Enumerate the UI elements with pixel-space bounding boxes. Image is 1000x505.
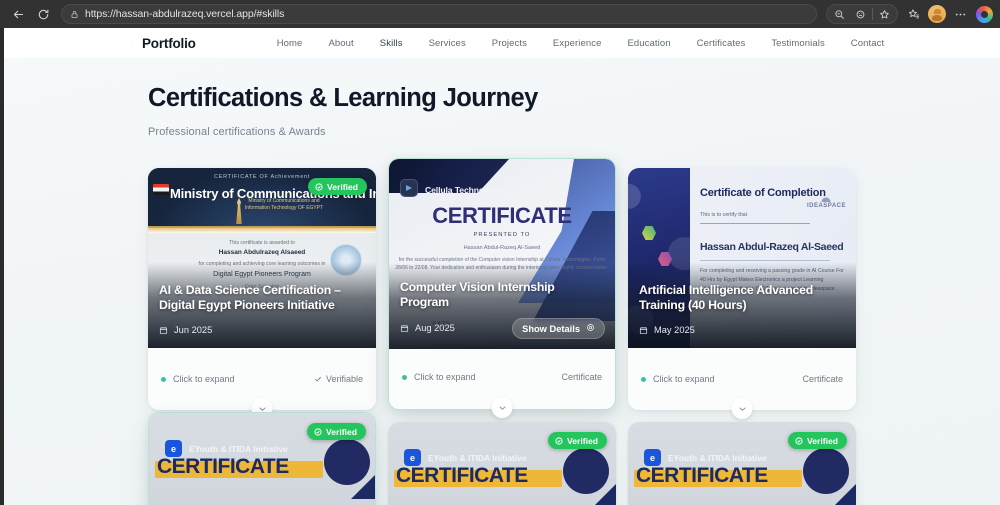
certificate-image[interactable]: Cellula Technologies CERTIFICATE PRESENT… [389,159,615,349]
expand-hint-label: Click to expand [414,372,476,382]
cert-heading: CERTIFICATE [157,455,289,479]
address-bar[interactable]: https://hassan-abdulrazeq.vercel.app/#sk… [61,4,817,24]
status-badge-verified: Verified [307,423,366,440]
nav-item-testimonials[interactable]: Testimonials [758,34,837,53]
certificate-date: Aug 2025 [400,323,455,333]
lock-icon [70,10,79,19]
nav-item-projects[interactable]: Projects [479,34,540,53]
card-footer-meta: Certificate [802,374,843,384]
status-dot-icon [402,375,407,380]
certificate-date-text: Jun 2025 [174,325,212,335]
chevron-down-icon[interactable] [732,398,753,419]
brand-logo[interactable]: Portfolio [142,36,196,51]
nav-item-home[interactable]: Home [264,34,316,53]
certificate-card-ai-data-science[interactable]: CERTIFICATE OF Achievement Ministry of C… [148,168,376,410]
expand-hint-label: Click to expand [653,374,715,384]
certificate-card-eyouth-2[interactable]: e EYouth & ITIDA Initiative CERTIFICATE … [388,422,616,505]
certificate-title: Artificial Intelligence Advanced Trainin… [639,283,845,314]
copilot-icon[interactable] [976,6,993,23]
favorite-star-icon[interactable] [874,4,895,25]
nav-item-skills[interactable]: Skills [367,34,416,53]
ideaspace-label: IDEASPACE [807,203,846,209]
cert-heading: CERTIFICATE [636,464,768,488]
certificate-card-ai-advanced-training[interactable]: Certificate of Completion This is to cer… [628,168,856,410]
calendar-icon [159,326,168,335]
expand-hint[interactable]: Click to expand [641,374,715,384]
check-circle-icon [555,437,563,445]
cert-org-name: EYouth & ITIDA Initiative [668,453,767,463]
collections-icon[interactable] [903,4,924,25]
show-details-button[interactable]: Show Details [512,318,605,339]
check-circle-icon [315,183,323,191]
certificate-image[interactable]: e EYouth & ITIDA Initiative CERTIFICATE … [628,422,856,505]
nav-item-services[interactable]: Services [416,34,479,53]
check-circle-icon [314,428,322,436]
certificate-title: Computer Vision Internship Program [400,280,604,311]
badge-label: Verified [326,427,357,437]
status-badge-verified: Verified [548,432,607,449]
cert-org-name: EYouth & ITIDA Initiative [428,453,527,463]
nav-item-education[interactable]: Education [614,34,683,53]
egypt-flag-icon [153,184,169,195]
certificate-card-eyouth-3[interactable]: e EYouth & ITIDA Initiative CERTIFICATE … [628,422,856,505]
cert-recipient-name: Hassan Abdul-Razeq Al-Saeed [700,241,843,253]
nav-item-certificates[interactable]: Certificates [684,34,759,53]
calendar-icon [400,324,409,333]
cellula-logo-icon [400,179,418,197]
page-subtitle: Professional certifications & Awards [148,126,1000,138]
page-title: Certifications & Learning Journey [148,84,1000,113]
certificate-date: Jun 2025 [159,325,212,335]
cert-org-name: EYouth & ITIDA Initiative [189,444,288,454]
badge-label: Verified [567,436,598,446]
card-footer-meta-label: Certificate [802,374,843,384]
badge-label: Verified [807,436,838,446]
certificate-date: May 2025 [639,325,695,335]
card-footer-meta: Certificate [561,372,602,382]
section-header: Certifications & Learning Journey Profes… [4,58,1000,138]
profile-avatar[interactable] [928,5,946,23]
nav-item-experience[interactable]: Experience [540,34,615,53]
check-icon [314,375,322,383]
expand-hint[interactable]: Click to expand [402,372,476,382]
cert-subline: This is to certify that [700,212,747,218]
cert-seal-text: Ministry of Communications and Informati… [244,198,324,213]
cert-heading: CERTIFICATE [396,464,528,488]
certificate-card-eyouth-1[interactable]: e EYouth & ITIDA Initiative CERTIFICATE … [148,412,376,505]
cert-recipient-name: Hassan Abdul-Razeq Al-Saeed [389,245,615,251]
calendar-icon [639,326,648,335]
address-url-text: https://hassan-abdulrazeq.vercel.app/#sk… [85,8,284,20]
card-footer-meta-label: Verifiable [326,374,363,384]
certificate-image[interactable]: CERTIFICATE OF Achievement Ministry of C… [148,168,376,348]
reader-mode-icon[interactable] [850,4,871,25]
certificate-date-text: Aug 2025 [415,323,455,333]
cert-presented-label: PRESENTED TO [389,232,615,238]
back-arrow-icon[interactable] [7,3,29,25]
card-footer-meta: Verifiable [314,374,363,384]
certificate-title: AI & Data Science Certification – Digita… [159,283,365,314]
card-footer-meta-label: Certificate [561,372,602,382]
site-navbar: Portfolio Home About Skills Services Pro… [4,28,1000,58]
reload-icon[interactable] [32,3,54,25]
certificate-image[interactable]: e EYouth & ITIDA Initiative CERTIFICATE … [388,422,616,505]
toolbar-divider [872,8,873,20]
toolbar-actions [826,4,993,25]
status-badge-verified: Verified [788,432,847,449]
status-badge-verified: Verified [308,178,367,195]
certificate-date-text: May 2025 [654,325,695,335]
certificate-card-computer-vision[interactable]: Cellula Technologies CERTIFICATE PRESENT… [388,158,616,410]
eye-icon [586,323,595,334]
nav-item-about[interactable]: About [315,34,366,53]
cert-heading: CERTIFICATE [389,203,615,229]
zoom-out-icon[interactable] [829,4,850,25]
nav-links: Home About Skills Services Projects Expe… [264,34,898,53]
status-dot-icon [641,377,646,382]
page-viewport: Portfolio Home About Skills Services Pro… [0,28,1000,505]
badge-label: Verified [327,182,358,192]
certificates-grid: CERTIFICATE OF Achievement Ministry of C… [148,168,864,505]
certificate-image[interactable]: e EYouth & ITIDA Initiative CERTIFICATE … [149,413,375,505]
status-dot-icon [161,377,166,382]
browser-toolbar: https://hassan-abdulrazeq.vercel.app/#sk… [0,0,1000,28]
expand-hint-label: Click to expand [173,374,235,384]
certificate-image[interactable]: Certificate of Completion This is to cer… [628,168,856,348]
toolbar-icon-group [826,4,898,24]
chevron-down-icon[interactable] [492,397,513,418]
expand-hint[interactable]: Click to expand [161,374,235,384]
check-circle-icon [795,437,803,445]
more-options-icon[interactable] [950,4,971,25]
nav-item-contact[interactable]: Contact [838,34,897,53]
cert-org-name: Cellula Technologies [425,185,508,195]
ideaspace-logo: IDEASPACE [807,190,846,209]
show-details-label: Show Details [522,324,580,334]
